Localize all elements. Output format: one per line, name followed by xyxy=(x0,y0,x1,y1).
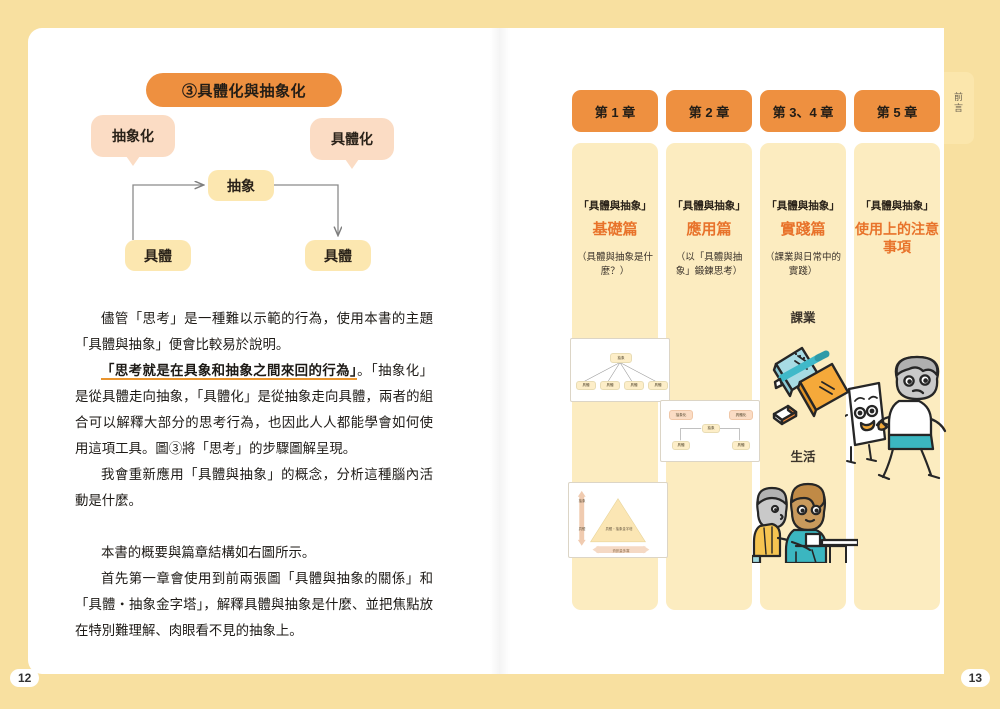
book-spread: 前 言 ③具體化與抽象化 抽象化 具體化 抽象 具體 xyxy=(0,0,1000,709)
paragraph-4: 本書的概要與篇章結構如右圖所示。 xyxy=(75,540,433,566)
chapter-4-quote: 「具體與抽象」 xyxy=(854,199,940,214)
side-index-tab[interactable]: 前 言 xyxy=(944,72,974,144)
thumbnail-tree-root: 抽象 xyxy=(610,353,632,363)
thumbnail-pyramid-diagram: 抽象 具體 具體・抽象金字塔 資訊量多寡 xyxy=(568,482,668,558)
caption-life: 生活 xyxy=(760,446,846,465)
node-abstractify: 抽象化 xyxy=(91,115,175,157)
thumbnail-pyramid-axis-top: 抽象 xyxy=(575,499,589,503)
thumbnail-tree-leaf-4: 具體 xyxy=(648,381,668,390)
chapter-3-quote: 「具體與抽象」 xyxy=(760,199,846,214)
body-copy: 儘管「思考」是一種難以示範的行為，使用本書的主題「具體與抽象」便會比較易於說明。… xyxy=(75,306,433,644)
chapter-2-title: 應用篇 xyxy=(666,221,752,240)
thumbnail-pyramid-axis-bottom: 具體 xyxy=(575,527,589,531)
books-and-pen-illustration xyxy=(762,330,858,435)
node-abstract-label: 抽象 xyxy=(227,176,255,196)
thumbnail-flow-concretify: 具體化 xyxy=(729,410,753,420)
concretize-abstract-diagram: 抽象化 具體化 抽象 具體 具體 xyxy=(60,115,440,295)
chapter-4-header[interactable]: 第 5 章 xyxy=(854,90,940,132)
paragraph-3: 我會重新應用「具體與抽象」的概念，分析這種腦內活動是什麼。 xyxy=(75,462,433,514)
chapter-1-title: 基礎篇 xyxy=(572,221,658,240)
thumbnail-tree-leaf-1: 具體 xyxy=(576,381,596,390)
chapter-4-title: 使用上的注意事項 xyxy=(854,221,940,256)
thumbnail-flow-diagram: 抽象化 具體化 抽象 具體 具體 xyxy=(660,400,760,462)
chapter-1-header[interactable]: 第 1 章 xyxy=(572,90,658,132)
chapter-2-desc: （以「具體與抽象」鍛鍊思考） xyxy=(666,251,752,280)
page-number-left: 12 xyxy=(10,669,39,687)
paper-character-and-person-illustration xyxy=(845,355,949,480)
paragraph-1: 儘管「思考」是一種難以示範的行為，使用本書的主題「具體與抽象」便會比較易於說明。 xyxy=(75,306,433,358)
caption-homework: 課業 xyxy=(760,307,846,326)
paragraph-2-highlight: 「思考就是在具象和抽象之間來回的行為」 xyxy=(101,363,357,380)
chapter-2-header[interactable]: 第 2 章 xyxy=(666,90,752,132)
thumbnail-flow-abstractify: 抽象化 xyxy=(669,410,693,420)
thumbnail-tree-diagram: 抽象 具體 具體 具體 具體 xyxy=(570,338,670,402)
two-people-talking-illustration xyxy=(752,468,858,563)
node-concrete-left: 具體 xyxy=(125,240,191,271)
node-concrete-left-label: 具體 xyxy=(144,246,172,266)
thumbnail-flow-concrete-right: 具體 xyxy=(732,441,750,450)
node-concrete-right: 具體 xyxy=(305,240,371,271)
chapter-1-quote: 「具體與抽象」 xyxy=(572,199,658,214)
thumbnail-tree-leaf-3: 具體 xyxy=(624,381,644,390)
thumbnail-pyramid-label: 具體・抽象金字塔 xyxy=(597,527,641,531)
chapter-column-2: 第 2 章 「具體與抽象」 應用篇 （以「具體與抽象」鍛鍊思考） xyxy=(666,90,752,610)
thumbnail-tree-lines xyxy=(571,339,669,402)
chapter-1-desc: （具體與抽象是什麼？） xyxy=(572,251,658,280)
chapter-3-header[interactable]: 第 3、4 章 xyxy=(760,90,846,132)
paragraph-5: 首先第一章會使用到前兩張圖「具體與抽象的關係」和「具體・抽象金字塔」，解釋具體與… xyxy=(75,566,433,644)
node-concretify-label: 具體化 xyxy=(331,129,373,149)
thumbnail-flow-abstract: 抽象 xyxy=(702,424,720,433)
thumbnail-tree-leaf-2: 具體 xyxy=(600,381,620,390)
chapter-3-title: 實踐篇 xyxy=(760,221,846,240)
side-tab-char-1: 前 xyxy=(944,92,974,103)
page-number-right: 13 xyxy=(961,669,990,687)
chapter-2-quote: 「具體與抽象」 xyxy=(666,199,752,214)
node-concrete-right-label: 具體 xyxy=(324,246,352,266)
thumbnail-pyramid-bottom-arrow-label: 資訊量多寡 xyxy=(599,548,643,553)
chapter-3-desc: （課業與日常中的實踐） xyxy=(760,251,846,280)
node-concretify: 具體化 xyxy=(310,118,394,160)
paragraph-2: 「思考就是在具象和抽象之間來回的行為」。「抽象化」是從具體走向抽象，「具體化」是… xyxy=(75,358,433,462)
chapter-2-body: 「具體與抽象」 應用篇 （以「具體與抽象」鍛鍊思考） xyxy=(666,143,752,610)
figure-banner-title: ③具體化與抽象化 xyxy=(146,73,342,107)
node-abstractify-label: 抽象化 xyxy=(112,126,154,146)
chapter-column-4: 第 5 章 「具體與抽象」 使用上的注意事項 xyxy=(854,90,940,610)
thumbnail-pyramid-shape xyxy=(569,483,667,557)
thumbnail-flow-concrete-left: 具體 xyxy=(672,441,690,450)
side-tab-char-2: 言 xyxy=(944,103,974,114)
node-abstract: 抽象 xyxy=(208,170,274,201)
